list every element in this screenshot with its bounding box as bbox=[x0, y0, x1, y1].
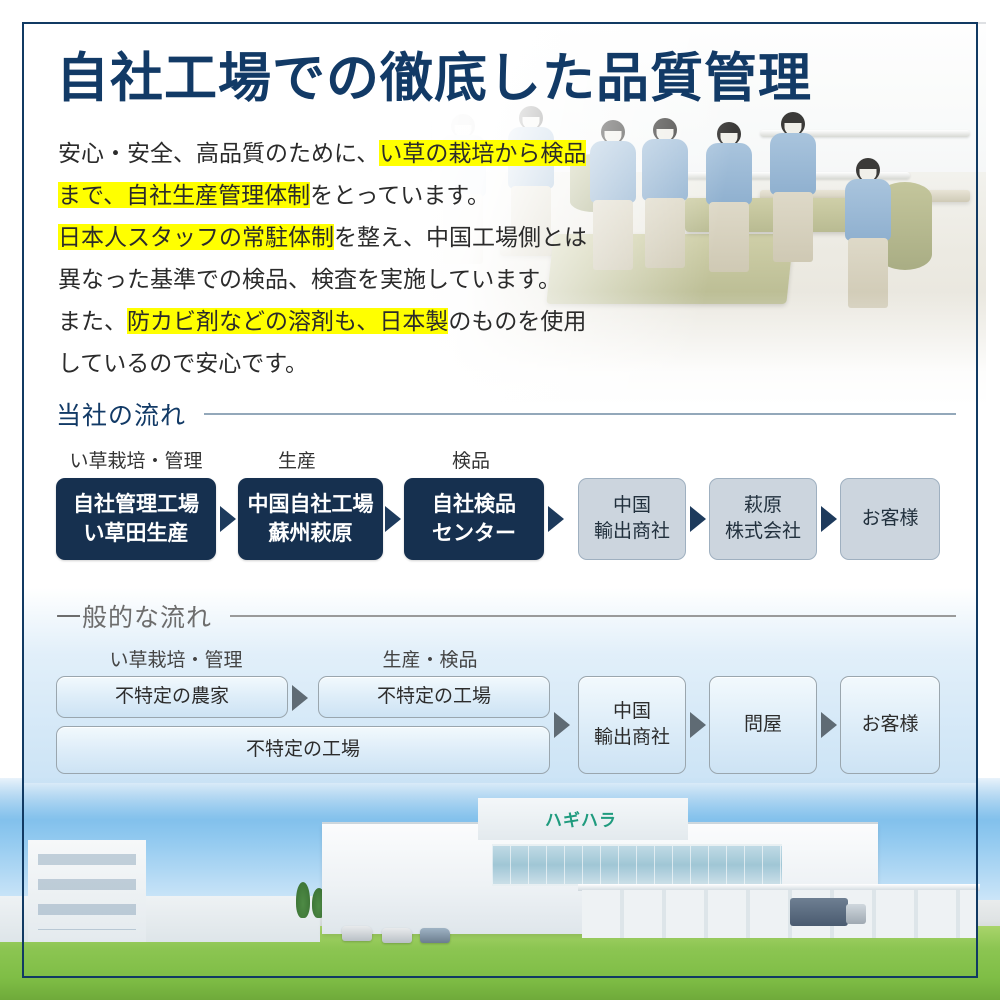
intro-line-2: まで、自社生産管理体制をとっています。 bbox=[58, 174, 658, 216]
our-flow-box-1: 中国自社工場蘇州萩原 bbox=[238, 478, 383, 560]
our-flow-box-1-line: 中国自社工場 bbox=[248, 490, 374, 519]
our-flow-label-0: い草栽培・管理 bbox=[69, 446, 202, 473]
general-flow-arrow-1-icon bbox=[554, 712, 570, 738]
our-flow-box-5: お客様 bbox=[840, 478, 940, 560]
section-rule bbox=[230, 615, 956, 617]
our-flow-arrow-3-icon bbox=[690, 506, 706, 532]
intro-line-5: また、防カビ剤などの溶剤も、日本製のものを使用 bbox=[58, 300, 658, 342]
general-flow-box-1: 不特定の工場 bbox=[318, 676, 550, 718]
general-flow-box-4-line: 問屋 bbox=[744, 712, 782, 738]
general-flow-box-5-line: お客様 bbox=[861, 712, 918, 738]
section-heading-general-flow: 一般的な流れ bbox=[56, 598, 956, 634]
section-heading-our-flow: 当社の流れ bbox=[56, 396, 956, 432]
intro-line-2-highlight-b: 自社生産管理体制 bbox=[126, 182, 310, 208]
our-flow-box-4: 萩原株式会社 bbox=[709, 478, 817, 560]
our-flow-box-2-line: センター bbox=[432, 519, 516, 548]
intro-line-3-plain: を整え、中国工場側とは bbox=[334, 224, 587, 250]
intro-line-5-highlight-a: 防カビ剤などの溶剤も、 bbox=[127, 308, 379, 334]
general-flow-box-0: 不特定の農家 bbox=[56, 676, 288, 718]
intro-line-2-highlight-a: まで、 bbox=[58, 182, 126, 208]
intro-line-1-plain: 安心・安全、高品質のために、 bbox=[58, 140, 379, 166]
intro-line-3-highlight: 日本人スタッフの常駐体制 bbox=[58, 224, 334, 250]
general-flow-box-3-line: 中国 bbox=[613, 699, 651, 725]
infographic-page: ハギハラ 自社工場での徹底した品質管理 安心・安全、高品質のために、い草の栽培か… bbox=[0, 0, 1000, 1000]
our-flow-box-3-line: 輸出商社 bbox=[594, 519, 670, 545]
intro-line-5-highlight-b: 日本製 bbox=[379, 308, 448, 334]
intro-line-5-plain-a: また、 bbox=[58, 308, 127, 334]
our-flow-arrow-2-icon bbox=[548, 506, 564, 532]
our-flow-box-2-line: 自社検品 bbox=[432, 490, 516, 519]
content-layer: 自社工場での徹底した品質管理 安心・安全、高品質のために、い草の栽培から検品 ま… bbox=[0, 0, 1000, 1000]
general-flow-box-3-line: 輸出商社 bbox=[594, 725, 670, 751]
general-flow-arrow-2-icon bbox=[690, 712, 706, 738]
general-flow-arrow-3-icon bbox=[821, 712, 837, 738]
intro-line-3: 日本人スタッフの常駐体制を整え、中国工場側とは bbox=[58, 216, 658, 258]
general-flow-label-0: い草栽培・管理 bbox=[109, 645, 242, 672]
intro-line-2-plain: をとっています。 bbox=[310, 182, 490, 208]
our-flow-box-0: 自社管理工場い草田生産 bbox=[56, 478, 216, 560]
our-flow-arrow-1-icon bbox=[385, 506, 401, 532]
our-flow-box-3-line: 中国 bbox=[613, 493, 651, 519]
section-title-our-flow: 当社の流れ bbox=[56, 396, 186, 432]
our-flow-arrow-0-icon bbox=[220, 506, 236, 532]
general-flow-box-1-line: 不特定の工場 bbox=[377, 684, 491, 710]
our-flow-arrow-4-icon bbox=[821, 506, 837, 532]
general-flow-arrow-0-icon bbox=[292, 685, 308, 711]
our-flow-box-2: 自社検品センター bbox=[404, 478, 544, 560]
our-flow-label-1: 生産 bbox=[278, 446, 316, 473]
intro-line-1: 安心・安全、高品質のために、い草の栽培から検品 bbox=[58, 132, 658, 174]
intro-line-1-highlight: い草の栽培から検品 bbox=[379, 140, 586, 166]
intro-line-4: 異なった基準での検品、検査を実施しています。 bbox=[58, 258, 658, 300]
our-flow-box-4-line: 株式会社 bbox=[725, 519, 801, 545]
section-title-general-flow: 一般的な流れ bbox=[56, 598, 212, 634]
our-flow-label-2: 検品 bbox=[452, 446, 490, 473]
our-flow-box-0-line: い草田生産 bbox=[84, 519, 189, 548]
section-rule bbox=[204, 413, 956, 415]
general-flow-label-1: 生産・検品 bbox=[382, 645, 477, 672]
general-flow-box-2-line: 不特定の工場 bbox=[246, 737, 360, 763]
general-flow-box-4: 問屋 bbox=[709, 676, 817, 774]
general-flow-box-5: お客様 bbox=[840, 676, 940, 774]
our-flow-box-3: 中国輸出商社 bbox=[578, 478, 686, 560]
intro-paragraph: 安心・安全、高品質のために、い草の栽培から検品 まで、自社生産管理体制をとってい… bbox=[58, 132, 658, 384]
our-flow-box-5-line: お客様 bbox=[861, 506, 918, 532]
our-flow-box-0-line: 自社管理工場 bbox=[73, 490, 199, 519]
general-flow-box-3: 中国輸出商社 bbox=[578, 676, 686, 774]
general-flow-box-0-line: 不特定の農家 bbox=[115, 684, 229, 710]
general-flow-box-2: 不特定の工場 bbox=[56, 726, 550, 774]
page-title: 自社工場での徹底した品質管理 bbox=[56, 50, 812, 108]
our-flow-box-4-line: 萩原 bbox=[744, 493, 782, 519]
intro-line-6: しているので安心です。 bbox=[58, 342, 658, 384]
intro-line-5-plain-b: のものを使用 bbox=[448, 308, 586, 334]
our-flow-box-1-line: 蘇州萩原 bbox=[269, 519, 353, 548]
